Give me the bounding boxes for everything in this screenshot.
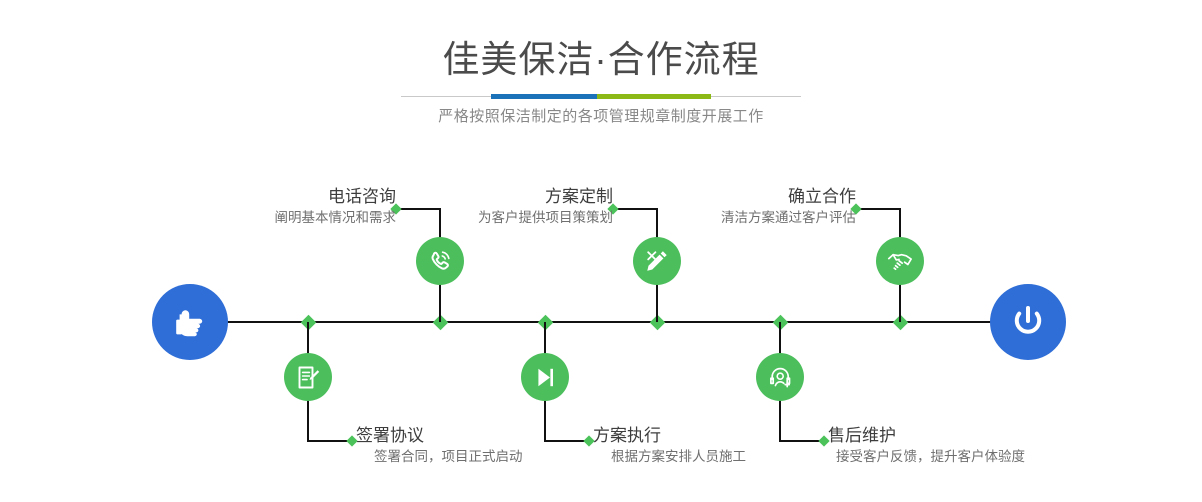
- step-icon-pencil-plan[interactable]: [633, 237, 681, 285]
- flow-diagram-page: 佳美保洁·合作流程 严格按照保洁制定的各项管理规章制度开展工作: [0, 0, 1202, 502]
- support-agent-icon: [767, 364, 794, 391]
- step-label-6: 售后维护 接受客户反馈，提升客户体验度: [828, 425, 1178, 467]
- step-label-5: 确立合作 清洁方案通过客户评估: [640, 186, 856, 228]
- step-icon-phone-call[interactable]: [416, 237, 464, 285]
- document-edit-icon: [295, 364, 322, 391]
- step-icon-play-forward[interactable]: [521, 353, 569, 401]
- step-desc: 清洁方案通过客户评估: [640, 208, 856, 228]
- phone-call-icon: [426, 247, 454, 275]
- step-title: 方案定制: [380, 186, 613, 208]
- step-desc: 阐明基本情况和需求: [150, 208, 396, 228]
- step-icon-support-agent[interactable]: [756, 353, 804, 401]
- step-icon-handshake[interactable]: [876, 237, 924, 285]
- step-title: 电话咨询: [150, 186, 396, 208]
- power-icon: [1006, 300, 1050, 344]
- step-icon-document-edit[interactable]: [284, 353, 332, 401]
- timeline-start-endpoint: [152, 284, 228, 360]
- timeline-end-endpoint: [990, 284, 1066, 360]
- step-desc: 为客户提供项目策策划: [380, 208, 613, 228]
- step-label-3: 方案定制 为客户提供项目策策划: [380, 186, 613, 228]
- step-label-1: 电话咨询 阐明基本情况和需求: [150, 186, 396, 228]
- pointing-hand-icon: [169, 301, 211, 343]
- connector-horizontal: [856, 208, 900, 210]
- step-title: 售后维护: [828, 425, 1178, 447]
- play-forward-icon: [532, 364, 559, 391]
- step-desc: 接受客户反馈，提升客户体验度: [828, 447, 1178, 467]
- handshake-icon: [886, 247, 914, 275]
- pencil-plan-icon: [643, 247, 671, 275]
- process-timeline: 电话咨询 阐明基本情况和需求 签署协议 签署合同，项目正式启动: [0, 0, 1202, 502]
- step-title: 确立合作: [640, 186, 856, 208]
